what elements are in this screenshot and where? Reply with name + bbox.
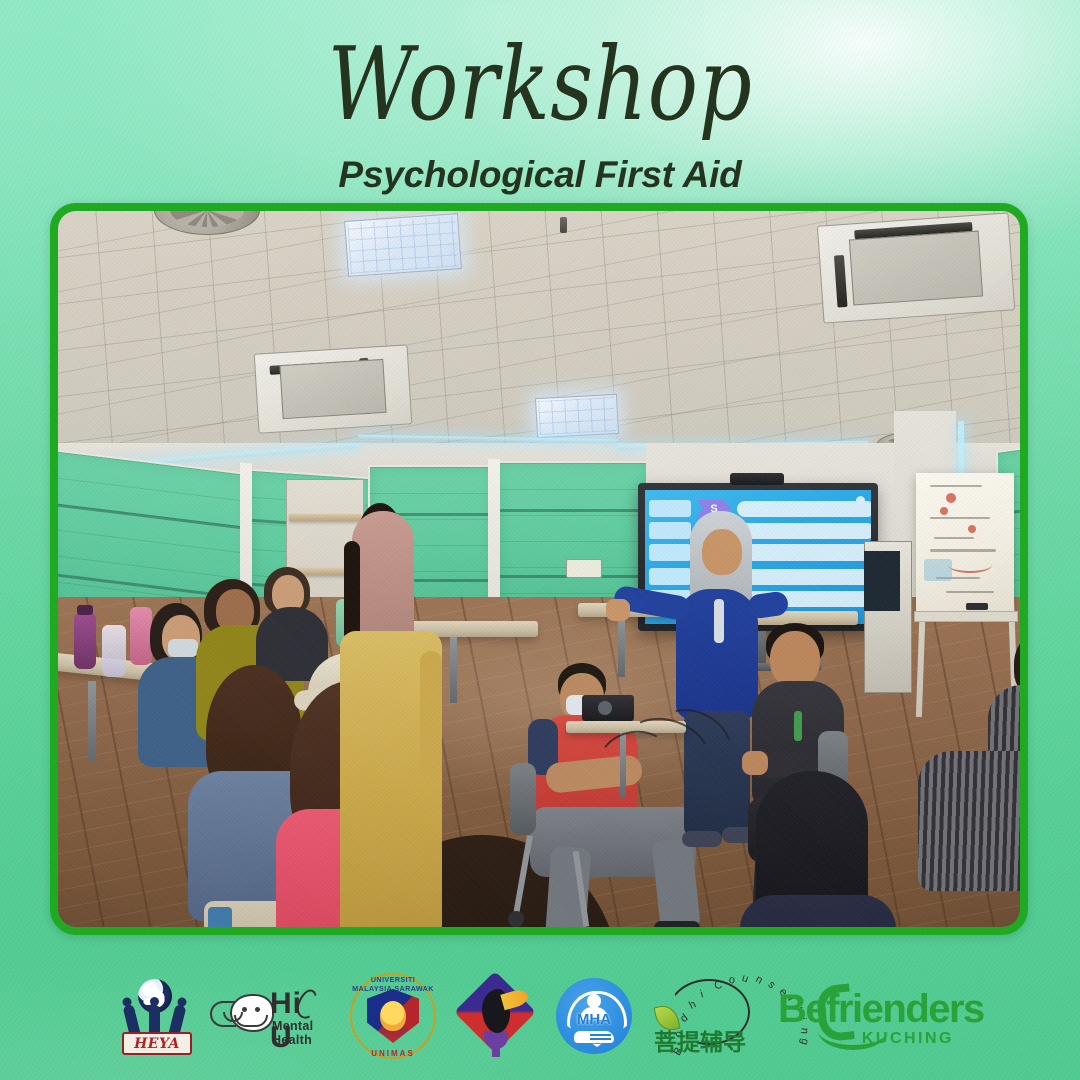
- befrienders-kuching-logo: Befrienders KUCHING: [778, 981, 958, 1051]
- slide-text-bar: [737, 523, 871, 539]
- hi-u-tagline: Mental Health: [272, 1019, 328, 1047]
- face-mask: [168, 639, 198, 657]
- sandal: [654, 921, 700, 927]
- flipchart-paper: [916, 473, 1014, 613]
- page-subtitle: Psychological First Aid: [0, 154, 1080, 196]
- bodhi-chinese-name: 菩提辅导: [654, 1023, 746, 1057]
- flipchart-marker: [966, 603, 988, 610]
- slide-corner-dot: [856, 496, 865, 505]
- poster-header: Workshop Psychological First Aid: [0, 34, 1080, 196]
- name-tag: [794, 711, 802, 741]
- wall-sign: [566, 559, 602, 578]
- facilitator-hand: [606, 599, 630, 621]
- person-icon: [587, 994, 601, 1008]
- figure-icon: [149, 1005, 160, 1035]
- shoe: [682, 831, 722, 847]
- befrienders-location: KUCHING: [862, 1030, 954, 1048]
- slide-text-bar: [737, 569, 871, 585]
- partner-logo-row: HEYA Hi U Mental Health UNIVERSITI MALAY…: [0, 968, 1080, 1064]
- ceiling-light-panel: [344, 213, 462, 277]
- smartboard-camera: [730, 473, 784, 485]
- hand-icon: [574, 1031, 614, 1043]
- slide-chip: [649, 522, 691, 539]
- desk-leg: [88, 681, 96, 761]
- ac-cassette-unit: [817, 212, 1015, 323]
- mha-wordmark: MHA: [556, 1011, 632, 1028]
- slide-chip: [649, 500, 691, 517]
- trophy-icon: [484, 1031, 508, 1049]
- phone: [208, 907, 232, 927]
- slide-text-bar: [737, 544, 871, 561]
- desk-leg: [450, 637, 457, 703]
- heya-logo: HEYA: [122, 977, 188, 1055]
- unimas-logo: UNIVERSITI MALAYSIA SARAWAK UNIMAS: [350, 973, 436, 1059]
- poster-canvas: Workshop Psychological First Aid: [0, 0, 1080, 1080]
- water-bottle: [130, 607, 152, 665]
- sprinkler-head: [560, 217, 567, 233]
- water-bottle: [102, 625, 126, 677]
- water-bottle: [74, 613, 96, 669]
- sarawak-hornbill-logo: [458, 977, 534, 1055]
- mha-logo: MHA: [556, 978, 632, 1054]
- event-photo: S O L E: [58, 211, 1020, 927]
- page-title: Workshop: [16, 34, 1064, 135]
- hi-u-mental-health-logo: Hi U Mental Health: [210, 985, 328, 1047]
- slide-chip: [649, 544, 691, 561]
- participant-torso: [918, 751, 1020, 891]
- participant-torso: [740, 895, 896, 927]
- event-photo-frame: S O L E: [50, 203, 1028, 935]
- participant-head: [770, 631, 820, 687]
- facilitator-head: [702, 529, 742, 575]
- participant-hand: [742, 751, 768, 775]
- brain-icon: [210, 993, 272, 1031]
- chair-caster: [508, 911, 524, 927]
- av-trolley-screen: [864, 551, 900, 611]
- av-device-lens: [598, 701, 612, 715]
- participant-arm: [420, 651, 442, 781]
- ceiling-light-panel: [535, 394, 619, 438]
- flipchart-tray: [914, 611, 1018, 622]
- lanyard: [714, 599, 724, 643]
- bottle-cap: [77, 605, 93, 615]
- unimas-text-bottom: UNIMAS: [350, 1049, 436, 1058]
- heya-wordmark: HEYA: [122, 1032, 192, 1055]
- chair-back: [510, 763, 536, 835]
- bodhi-counselling-logo: B o d h i C o u n s e l l i n g 菩提辅导: [654, 975, 756, 1057]
- ac-cassette-unit: [254, 344, 413, 433]
- slide-text-bar: [737, 501, 871, 517]
- desk-leg: [618, 617, 625, 677]
- slide-chip: [649, 568, 691, 585]
